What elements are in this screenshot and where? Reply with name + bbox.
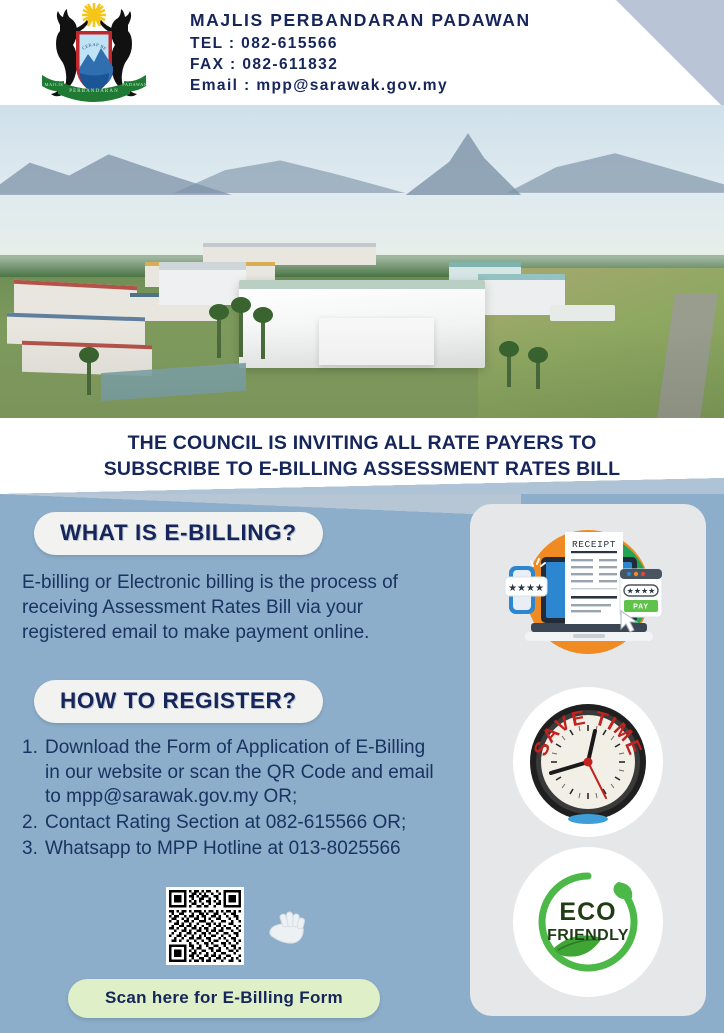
poster-header: CEKAP BERSIH MAKMUR PERBANDARAN MAJLIS P… xyxy=(0,0,724,105)
register-steps-list: Download the Form of Application of E-Bi… xyxy=(22,736,442,861)
qr-row xyxy=(166,887,306,965)
photo-council-building-wing xyxy=(319,318,435,365)
email-line: Email : mpp@sarawak.gov.my xyxy=(190,75,531,96)
illustrations-panel: RECEIPT ★★★★ xyxy=(470,504,706,1016)
online-payment-receipt-illustration: RECEIPT ★★★★ xyxy=(503,514,673,677)
what-is-ebilling-body: E-billing or Electronic billing is the p… xyxy=(22,571,440,646)
photo-palm-tree xyxy=(261,315,265,359)
qr-code[interactable] xyxy=(166,887,244,965)
list-item: Contact Rating Section at 082-615566 OR; xyxy=(22,811,442,836)
scan-here-button-label: Scan here for E-Billing Form xyxy=(105,988,343,1007)
pin-mask: ★★★★ xyxy=(508,583,544,594)
photo-canopy xyxy=(550,305,615,321)
pin-mask: ★★★★ xyxy=(627,587,656,596)
eco-label-1: ECO xyxy=(559,898,616,926)
eco-label-2: FRIENDLY xyxy=(547,927,629,944)
pay-button-label: PAY xyxy=(633,604,649,611)
header-contact-block: MAJLIS PERBANDARAN PADAWAN TEL : 082-615… xyxy=(190,8,531,96)
section-heading-how-to-register: HOW TO REGISTER? xyxy=(34,680,323,723)
photo-palm-tree xyxy=(87,355,91,395)
headline-band: THE COUNCIL IS INVITING ALL RATE PAYERS … xyxy=(0,418,724,494)
aerial-town-photo xyxy=(0,105,724,418)
section-heading-what-is-ebilling: WHAT IS E-BILLING? xyxy=(34,512,323,555)
headline-line-2: SUBSCRIBE TO E-BILLING ASSESSMENT RATES … xyxy=(18,457,706,483)
padawan-council-coat-of-arms-icon: CEKAP BERSIH MAKMUR PERBANDARAN MAJLIS P… xyxy=(30,1,158,104)
svg-text:PADAWAN: PADAWAN xyxy=(122,82,148,87)
section-heading-label: HOW TO REGISTER? xyxy=(60,688,297,713)
photo-palm-tree xyxy=(217,312,221,358)
pointing-hand-icon xyxy=(266,904,306,948)
svg-text:MAJLIS: MAJLIS xyxy=(45,82,64,87)
telephone-line: TEL : 082-615566 xyxy=(190,33,531,54)
scan-here-button[interactable]: Scan here for E-Billing Form xyxy=(68,979,380,1018)
receipt-title: RECEIPT xyxy=(572,539,616,550)
svg-text:PERBANDARAN: PERBANDARAN xyxy=(69,89,119,94)
photo-palm-tree xyxy=(536,355,540,389)
photo-palm-tree xyxy=(239,305,243,357)
save-time-clock-illustration: SAVE TIME xyxy=(513,687,663,837)
headline-line-1: THE COUNCIL IS INVITING ALL RATE PAYERS … xyxy=(18,431,706,457)
fax-line: FAX : 082-611832 xyxy=(190,54,531,75)
eco-friendly-badge-illustration: ECO FRIENDLY xyxy=(513,847,663,997)
list-item: Download the Form of Application of E-Bi… xyxy=(22,736,442,810)
section-heading-label: WHAT IS E-BILLING? xyxy=(60,520,297,545)
organisation-name: MAJLIS PERBANDARAN PADAWAN xyxy=(190,8,531,32)
corner-triangle-decoration xyxy=(616,0,724,105)
photo-palm-tree xyxy=(507,349,511,387)
main-content: WHAT IS E-BILLING? E-billing or Electron… xyxy=(0,494,724,1033)
list-item: Whatsapp to MPP Hotline at 013-8025566 xyxy=(22,837,442,862)
